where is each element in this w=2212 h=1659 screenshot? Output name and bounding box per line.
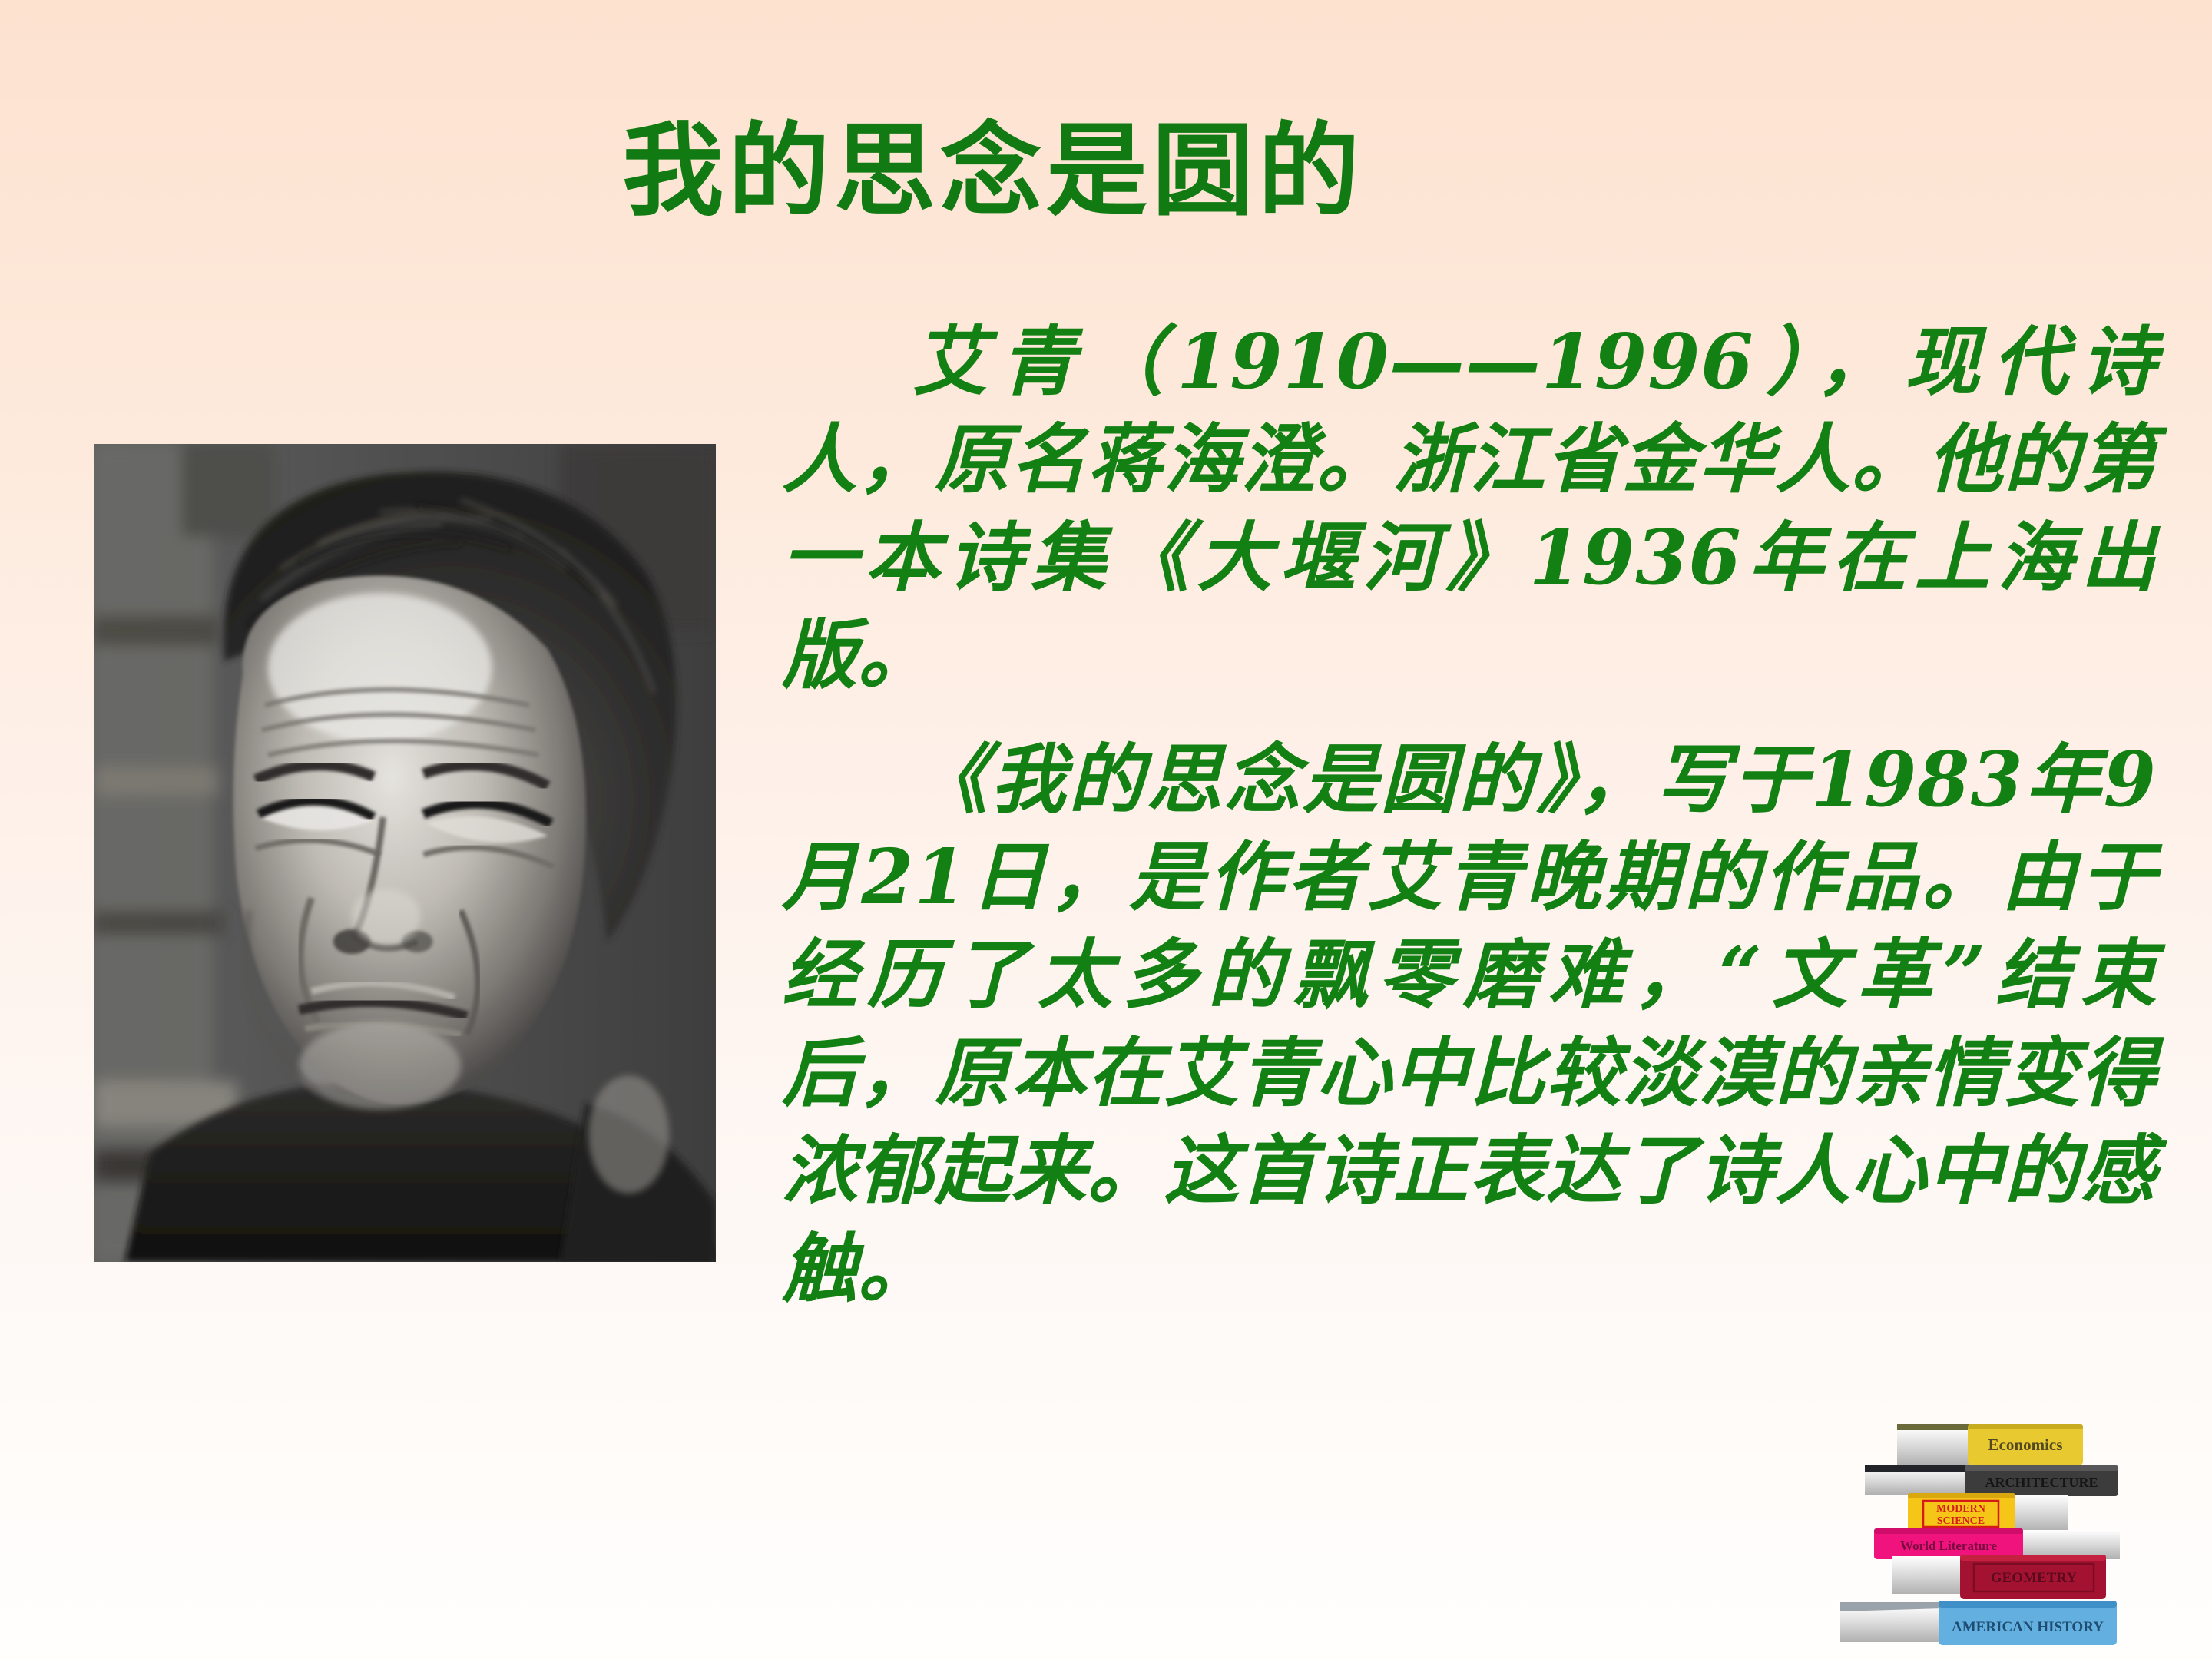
paragraph-poem-background: 《我的思念是圆的》，写于1983年9月21日，是作者艾青晚期的作品。由于经历了太… [782,731,2157,1318]
slide-canvas: 我的思念是圆的 [0,0,2212,1659]
books-clipart: Economics ARCHITECTURE MODERN SCIENCE [1837,1418,2198,1652]
body-text-block: 艾青（1910——1996），现代诗人，原名蒋海澄。浙江省金华人。他的第一本诗集… [782,313,2157,1318]
paragraph-author-bio: 艾青（1910——1996），现代诗人，原名蒋海澄。浙江省金华人。他的第一本诗集… [782,313,2157,705]
svg-text:ARCHITECTURE: ARCHITECTURE [1985,1475,2098,1490]
svg-text:Economics: Economics [1988,1435,2063,1454]
stack-of-books-icon: Economics ARCHITECTURE MODERN SCIENCE [1837,1418,2198,1652]
svg-text:AMERICAN HISTORY: AMERICAN HISTORY [1952,1619,2104,1635]
book-modern-science: MODERN SCIENCE [1908,1493,2068,1533]
svg-text:World Literature: World Literature [1900,1538,1997,1553]
book-economics: Economics [1897,1424,2083,1465]
svg-text:MODERN: MODERN [1936,1503,1985,1515]
svg-text:GEOMETRY: GEOMETRY [1991,1570,2078,1586]
book-geometry: GEOMETRY [1892,1555,2106,1599]
book-american-history: AMERICAN HISTORY [1840,1601,2117,1645]
svg-text:SCIENCE: SCIENCE [1937,1515,1985,1527]
portrait-photo [94,444,716,1262]
book-architecture: ARCHITECTURE [1865,1465,2118,1496]
page-title: 我的思念是圆的 [622,115,1544,227]
portrait-image [94,444,716,1262]
